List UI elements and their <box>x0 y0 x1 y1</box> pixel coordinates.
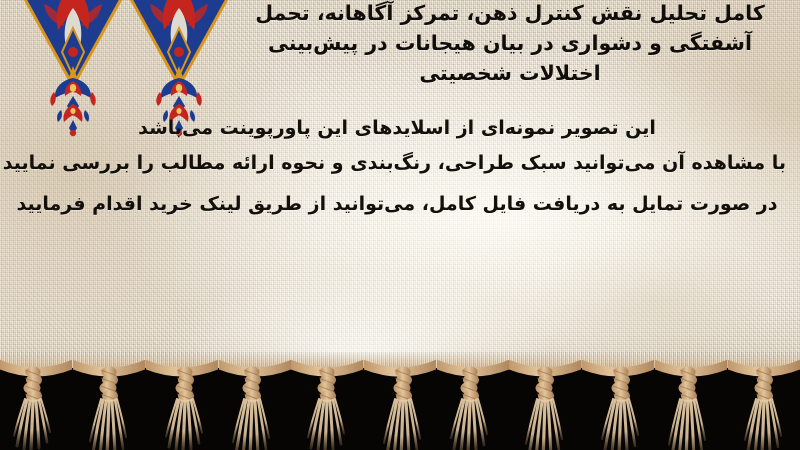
fringe-tassel <box>655 360 727 450</box>
carpet-fringe-icon <box>0 360 800 450</box>
fringe-tassel <box>728 360 800 450</box>
fringe-tassel <box>582 360 654 450</box>
fringe-tassel <box>0 360 72 450</box>
body-line-3: در صورت تمایل به دریافت فایل کامل، می‌تو… <box>8 183 786 225</box>
slide-title: کامل تحلیل نقش کنترل ذهن، تمرکز آگاهانه،… <box>230 0 790 88</box>
fringe-tassel <box>219 360 291 450</box>
fringe-tassel <box>291 360 363 450</box>
fringe-tassel <box>73 360 145 450</box>
fringe-tassel <box>437 360 509 450</box>
fringe-tassel <box>364 360 436 450</box>
title-line-1: کامل تحلیل نقش کنترل ذهن، تمرکز آگاهانه،… <box>230 0 790 28</box>
fringe-tassel <box>146 360 218 450</box>
fringe-tassel <box>509 360 581 450</box>
slide-body: این تصویر نمونه‌ای از اسلایدهای این پاور… <box>8 113 786 225</box>
slide-canvas: کامل تحلیل نقش کنترل ذهن، تمرکز آگاهانه،… <box>0 0 800 450</box>
body-line-2: با مشاهده آن می‌توانید سبک طراحی، رنگ‌بن… <box>8 143 786 183</box>
title-line-2: آشفتگی و دشواری در بیان هیجانات در پیش‌ب… <box>230 28 790 58</box>
title-line-3: اختلالات شخصیتی <box>230 58 790 88</box>
body-line-1: این تصویر نمونه‌ای از اسلایدهای این پاور… <box>8 113 786 143</box>
